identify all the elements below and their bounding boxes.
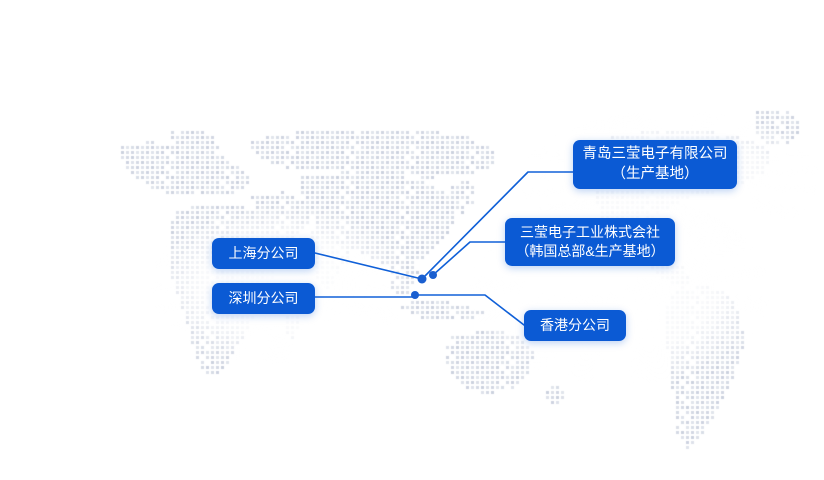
world-map-layer [0, 0, 824, 480]
label-shanghai-line-1: 上海分公司 [229, 244, 299, 263]
dotted-world-map [0, 0, 824, 480]
map-stage: 青岛三莹电子有限公司 （生产基地） 三莹电子工业株式会社 （韩国总部&生产基地）… [0, 0, 824, 480]
label-korea-line-2: （韩国总部&生产基地） [515, 242, 664, 261]
label-shanghai[interactable]: 上海分公司 [212, 238, 315, 269]
label-shenzhen[interactable]: 深圳分公司 [212, 283, 315, 314]
label-korea-line-1: 三莹电子工业株式会社 [520, 223, 660, 242]
label-qingdao-line-1: 青岛三莹电子有限公司 [583, 145, 728, 165]
label-qingdao-line-2: （生产基地） [612, 165, 699, 185]
label-hongkong[interactable]: 香港分公司 [524, 310, 626, 341]
label-korea[interactable]: 三莹电子工业株式会社 （韩国总部&生产基地） [505, 218, 675, 266]
label-hongkong-line-1: 香港分公司 [540, 316, 610, 335]
label-qingdao[interactable]: 青岛三莹电子有限公司 （生产基地） [573, 140, 737, 189]
label-shenzhen-line-1: 深圳分公司 [229, 289, 299, 308]
